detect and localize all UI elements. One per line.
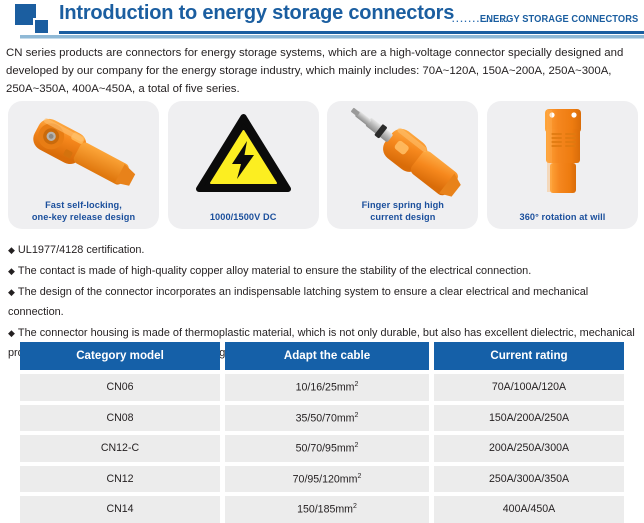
feature-label-line1: Finger spring high <box>362 200 444 210</box>
header-rule-thin <box>20 38 644 39</box>
feature-label-line2: current design <box>370 212 435 222</box>
cell-cable: 70/95/120mm2 <box>225 466 429 493</box>
header-rule-dark <box>59 31 644 34</box>
table-header-row: Category model Adapt the cable Current r… <box>20 342 624 370</box>
table-row: CN14 150/185mm2 400A/450A <box>20 496 624 523</box>
list-item: ◆UL1977/4128 certification. <box>8 240 638 260</box>
column-header-current-rating: Current rating <box>434 342 624 370</box>
feature-card-finger-spring[interactable]: Finger spring high current design <box>327 101 478 229</box>
cell-rating: 150A/200A/250A <box>434 405 624 432</box>
cell-cable-superscript: 2 <box>354 412 358 419</box>
feature-card-label: Finger spring high current design <box>327 199 478 223</box>
feature-label-line1: 1000/1500V DC <box>210 212 277 222</box>
cell-cable: 150/185mm2 <box>225 496 429 523</box>
cell-cable-superscript: 2 <box>353 503 357 510</box>
list-item-text: The contact is made of high-quality copp… <box>18 265 531 277</box>
cell-cable-text: 150/185mm <box>297 504 353 516</box>
page-header: Introduction to energy storage connector… <box>0 0 644 42</box>
logo-mark-icon <box>14 3 56 35</box>
cell-cable-superscript: 2 <box>354 442 358 449</box>
diamond-bullet-icon: ◆ <box>8 287 15 297</box>
feature-card-self-locking[interactable]: Fast self-locking, one-key release desig… <box>8 101 159 229</box>
page-title: Introduction to energy storage connector… <box>59 2 454 25</box>
feature-card-label: 1000/1500V DC <box>168 211 319 223</box>
table-row: CN08 35/50/70mm2 150A/200A/250A <box>20 405 624 432</box>
feature-card-list: Fast self-locking, one-key release desig… <box>8 101 638 229</box>
cell-cable-text: 10/16/25mm <box>296 382 355 394</box>
feature-card-label: Fast self-locking, one-key release desig… <box>8 199 159 223</box>
cell-cable-text: 70/95/120mm <box>293 473 358 485</box>
cell-cable-superscript: 2 <box>354 381 358 388</box>
diamond-bullet-icon: ◆ <box>8 266 15 276</box>
cell-cable: 50/70/95mm2 <box>225 435 429 462</box>
column-header-category-model: Category model <box>20 342 220 370</box>
orange-right-angle-connector-photo <box>8 105 159 197</box>
feature-card-label: 360° rotation at will <box>487 211 638 223</box>
feature-label-line2: one-key release design <box>32 212 135 222</box>
cell-rating: 200A/250A/300A <box>434 435 624 462</box>
header-section-label: ENERGY STORAGE CONNECTORS <box>480 14 638 25</box>
feature-label-line1: Fast self-locking, <box>45 200 122 210</box>
cell-rating: 250A/300A/350A <box>434 466 624 493</box>
diamond-bullet-icon: ◆ <box>8 328 15 338</box>
cell-rating: 400A/450A <box>434 496 624 523</box>
logo-square-small-icon <box>33 18 50 35</box>
table-row: CN12 70/95/120mm2 250A/300A/350A <box>20 466 624 493</box>
table-row: CN12-C 50/70/95mm2 200A/250A/300A <box>20 435 624 462</box>
table-row: CN06 10/16/25mm2 70A/100A/120A <box>20 374 624 401</box>
column-header-adapt-cable: Adapt the cable <box>225 342 429 370</box>
cell-model: CN06 <box>20 374 220 401</box>
cell-cable-text: 50/70/95mm <box>296 443 355 455</box>
orange-connector-with-metal-pin-photo <box>327 105 478 197</box>
cell-cable-superscript: 2 <box>357 473 361 480</box>
intro-paragraph: CN series products are connectors for en… <box>6 44 640 98</box>
list-item-text: UL1977/4128 certification. <box>18 244 145 256</box>
cell-model: CN14 <box>20 496 220 523</box>
cell-model: CN12 <box>20 466 220 493</box>
cell-cable: 35/50/70mm2 <box>225 405 429 432</box>
feature-label-line1: 360° rotation at will <box>520 212 606 222</box>
orange-connector-housing-front-photo <box>487 105 638 197</box>
cell-cable: 10/16/25mm2 <box>225 374 429 401</box>
list-item-text: The design of the connector incorporates… <box>8 286 588 318</box>
feature-card-voltage[interactable]: 1000/1500V DC <box>168 101 319 229</box>
list-item: ◆The design of the connector incorporate… <box>8 282 638 322</box>
cell-cable-text: 35/50/70mm <box>296 412 355 424</box>
high-voltage-warning-triangle-icon <box>168 105 319 197</box>
cell-model: CN12-C <box>20 435 220 462</box>
diamond-bullet-icon: ◆ <box>8 245 15 255</box>
spec-table: Category model Adapt the cable Current r… <box>20 342 624 523</box>
list-item: ◆The contact is made of high-quality cop… <box>8 261 638 281</box>
cell-rating: 70A/100A/120A <box>434 374 624 401</box>
feature-card-rotation[interactable]: 360° rotation at will <box>487 101 638 229</box>
cell-model: CN08 <box>20 405 220 432</box>
